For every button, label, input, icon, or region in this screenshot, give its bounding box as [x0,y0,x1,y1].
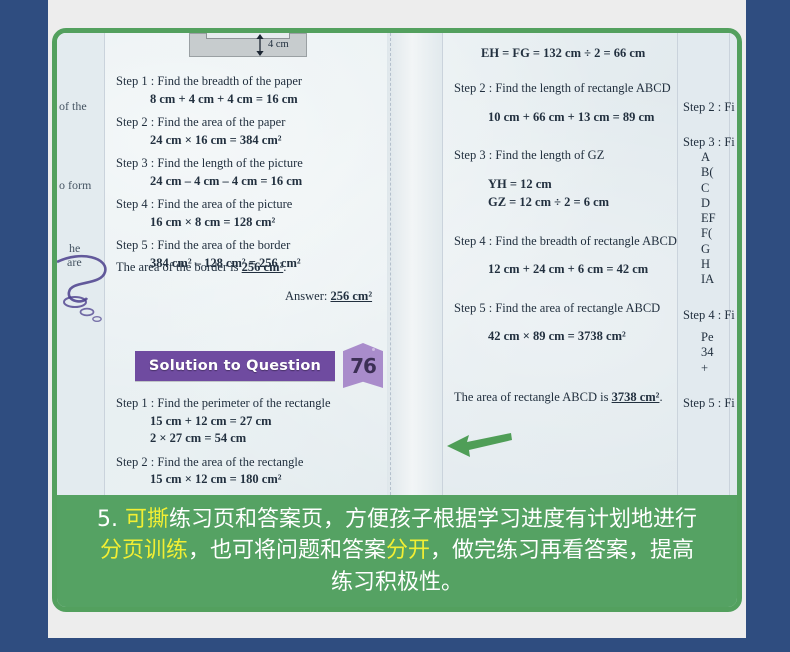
step-item: Step 1 : Find the breadth of the paper 8… [116,75,384,105]
right-fragment-line: B( [701,165,737,180]
step-header: Step 5 : Find the area of rectangle ABCD [454,301,660,315]
step-header: Step 2 : Fi [683,101,735,114]
step-item: Step 1 : Find the perimeter of the recta… [116,397,384,445]
conclusion-prefix: The area of rectangle ABCD is [454,390,612,404]
step-item: Step 4 : Find the breadth of rectangle A… [454,235,684,276]
step-item: Step 2 : Find the area of the paper 24 c… [116,116,384,146]
step-header: Step 4 : Find the breadth of rectangle A… [454,234,677,248]
right-fragment-line: A [701,150,737,165]
step-item: Step 3 : Find the length of the picture … [116,157,384,187]
pointer-arrow-icon [447,431,513,457]
bottom-blue-border [48,638,746,652]
right-fragment-line: G [701,242,737,257]
thought-bubble-icon [57,248,115,324]
conclusion-suffix: . [283,260,286,274]
caption-line-2: 分页训练，也可将问题和答案分开，做完练习再看答案，提高 [100,535,694,566]
conclusion-value: 256 cm² [242,260,284,274]
mid-page-steps-block: Step 2 : Find the length of rectangle AB… [454,82,684,354]
right-fragment-list: A B( C D EF F( G H IA [683,150,737,287]
mid-page-conclusion: The area of rectangle ABCD is 3738 cm². [454,390,663,405]
left-page-steps-block-2: Step 1 : Find the perimeter of the recta… [116,397,384,505]
right-fragment: Step 4 : Fi Pe 34 + [683,309,737,376]
step-header: Step 5 : Fi [683,396,735,410]
step-header: Step 2 : Find the area of the rectangle [116,455,303,469]
caption-seg: 练习积极性。 [331,570,463,595]
slide-root: of the o form he are 4 cm [0,0,790,652]
dimension-arrow-icon [253,33,267,57]
caption-seg-highlight: 分页训练 [100,538,188,563]
left-page-conclusion: The area of the border is 256 cm². [116,260,286,275]
paper-diagram [189,33,307,57]
ghost-fragment-o-form: o form [59,178,91,193]
answer-value: 256 cm² [330,289,372,303]
caption-seg: 5. [97,507,125,532]
ghost-fragment-of-the: of the [59,99,87,114]
left-page-answer: Answer: 256 cm² [285,289,372,304]
page-gutter [387,33,443,505]
step-header: Step 3 : Fi [683,135,735,149]
right-fragment-line: 34 [701,345,737,361]
right-fragment-line: IA [701,272,737,287]
conclusion-prefix: The area of the border is [116,260,242,274]
step-header: Step 3 : Find the length of the picture [116,156,303,170]
step-calc: 12 cm + 24 cm + 6 cm = 42 cm [454,263,684,276]
right-fragment-line: H [701,257,737,272]
right-fragment-line: F( [701,226,737,241]
left-page-steps-block: Step 1 : Find the breadth of the paper 8… [116,75,384,280]
left-blue-border [0,0,48,652]
caption-seg-highlight: 分开 [386,538,430,563]
caption-seg: ，也可将问题和答案 [188,538,386,563]
step-calc: 24 cm – 4 cm – 4 cm = 16 cm [116,175,384,188]
right-page-fragments: Step 2 : Fi 34 Step 3 : Fi 9( A B( C D E… [683,101,737,409]
step-header: Step 3 : Find the length of GZ [454,148,604,162]
conclusion-suffix: . [659,390,662,404]
workbook-photo: of the o form he are 4 cm [57,33,737,505]
right-fragment: Step 2 : Fi 34 [683,101,737,114]
right-blue-border [746,0,790,652]
conclusion-value: 3738 cm² [612,390,660,404]
step-header: Step 2 : Find the area of the paper [116,115,285,129]
step-calc: 24 cm × 16 cm = 384 cm² [116,134,384,147]
caption-seg: 练习页和答案页，方便孩子根据学习进度有计划地进行 [169,507,697,532]
step-calc: 42 cm × 89 cm = 3738 cm² [454,330,684,343]
caption-line-3: 练习积极性。 [331,567,463,598]
step-calc: 10 cm + 66 cm + 13 cm = 89 cm [454,111,684,124]
perforation-line-left [390,33,391,505]
mid-page-top-calc: EH = FG = 132 cm ÷ 2 = 66 cm [481,46,645,61]
question-number-badge: 76 [343,343,383,388]
right-fragment: Step 3 : Fi 9( [683,136,737,149]
right-fragment-line: C [701,181,737,196]
step-item: Step 2 : Find the length of rectangle AB… [454,82,684,123]
step-calc-2: 2 × 27 cm = 54 cm [116,432,384,445]
step-calc: 16 cm × 8 cm = 128 cm² [116,216,384,229]
step-calc: YH = 12 cm [454,178,684,191]
badge-dot-icon [372,348,375,351]
solution-banner-title: Solution to Question [149,358,321,374]
page-edge-line-2 [442,33,443,505]
right-fragment-line: Pe [701,330,737,346]
step-item: Step 4 : Find the area of the picture 16… [116,198,384,228]
question-number: 76 [350,354,376,378]
solution-banner: Solution to Question [135,351,335,381]
feature-card: of the o form he are 4 cm [52,28,742,612]
step-calc: 15 cm × 12 cm = 180 cm² [116,473,384,486]
step-calc-2: GZ = 12 cm ÷ 2 = 6 cm [454,196,684,209]
caption-seg: ，做完练习再看答案，提高 [430,538,694,563]
step-header: Step 2 : Find the length of rectangle AB… [454,81,671,95]
right-fragment-line: + [701,361,737,377]
step-header: Step 1 : Find the perimeter of the recta… [116,396,331,410]
diagram-dimension-label: 4 cm [268,39,289,50]
step-item: Step 3 : Find the length of GZ YH = 12 c… [454,149,684,209]
answer-label: Answer: [285,289,327,303]
step-calc: 15 cm + 12 cm = 27 cm [116,415,384,428]
step-header: Step 4 : Find the area of the picture [116,197,292,211]
right-fragment: Step 5 : Fi 9( [683,397,737,410]
step-header: Step 1 : Find the breadth of the paper [116,74,302,88]
step-item: Step 2 : Find the area of the rectangle … [116,456,384,486]
step-item: Step 5 : Find the area of rectangle ABCD… [454,302,684,343]
right-fragment-line: EF [701,211,737,226]
step-header: Step 5 : Find the area of the border [116,238,290,252]
step-header: Step 4 : Fi [683,308,735,322]
right-fragment-line: D [701,196,737,211]
caption-line-1: 5. 可撕练习页和答案页，方便孩子根据学习进度有计划地进行 [97,504,697,535]
step-calc: 8 cm + 4 cm + 4 cm = 16 cm [116,93,384,106]
caption-band: 5. 可撕练习页和答案页，方便孩子根据学习进度有计划地进行 分页训练，也可将问题… [57,495,737,607]
caption-seg-highlight: 可撕 [125,507,169,532]
